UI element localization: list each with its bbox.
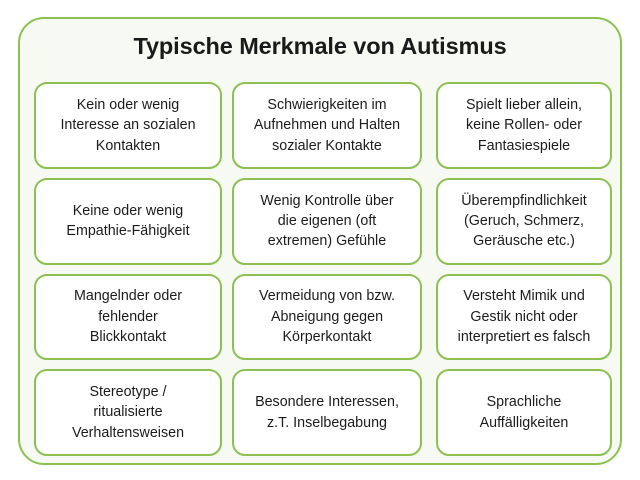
feature-box-besondere-interessen: Besondere Interessen, z.T. Inselbegabung [232, 369, 422, 456]
feature-box-ueberempfindlichkeit: Überempfindlichkeit (Geruch, Schmerz, Ge… [436, 178, 612, 265]
diagram-canvas: Typische Merkmale von Autismus Kein oder… [0, 0, 640, 480]
feature-box-kein-interesse-soziale-kontakte: Kein oder wenig Interesse an sozialen Ko… [34, 82, 222, 169]
page-title: Typische Merkmale von Autismus [20, 33, 620, 60]
feature-box-vermeidung-koerperkontakt: Vermeidung von bzw. Abneigung gegen Körp… [232, 274, 422, 361]
feature-box-spielt-lieber-allein: Spielt lieber allein, keine Rollen- oder… [436, 82, 612, 169]
autism-features-container: Typische Merkmale von Autismus Kein oder… [18, 17, 622, 465]
feature-box-schwierigkeiten-soziale-kontakte: Schwierigkeiten im Aufnehmen und Halten … [232, 82, 422, 169]
feature-box-mangelnder-blickkontakt: Mangelnder oder fehlender Blickkontakt [34, 274, 222, 361]
feature-box-sprachliche-auffaelligkeiten: Sprachliche Auffälligkeiten [436, 369, 612, 456]
feature-box-wenig-gefuehls-kontrolle: Wenig Kontrolle über die eigenen (oft ex… [232, 178, 422, 265]
feature-box-wenig-empathie-faehigkeit: Keine oder wenig Empathie-Fähigkeit [34, 178, 222, 265]
feature-box-versteht-mimik-gestik-nicht: Versteht Mimik und Gestik nicht oder int… [436, 274, 612, 361]
feature-box-stereotype-verhaltensweisen: Stereotype / ritualisierte Verhaltenswei… [34, 369, 222, 456]
feature-grid: Kein oder wenig Interesse an sozialen Ko… [30, 82, 614, 456]
